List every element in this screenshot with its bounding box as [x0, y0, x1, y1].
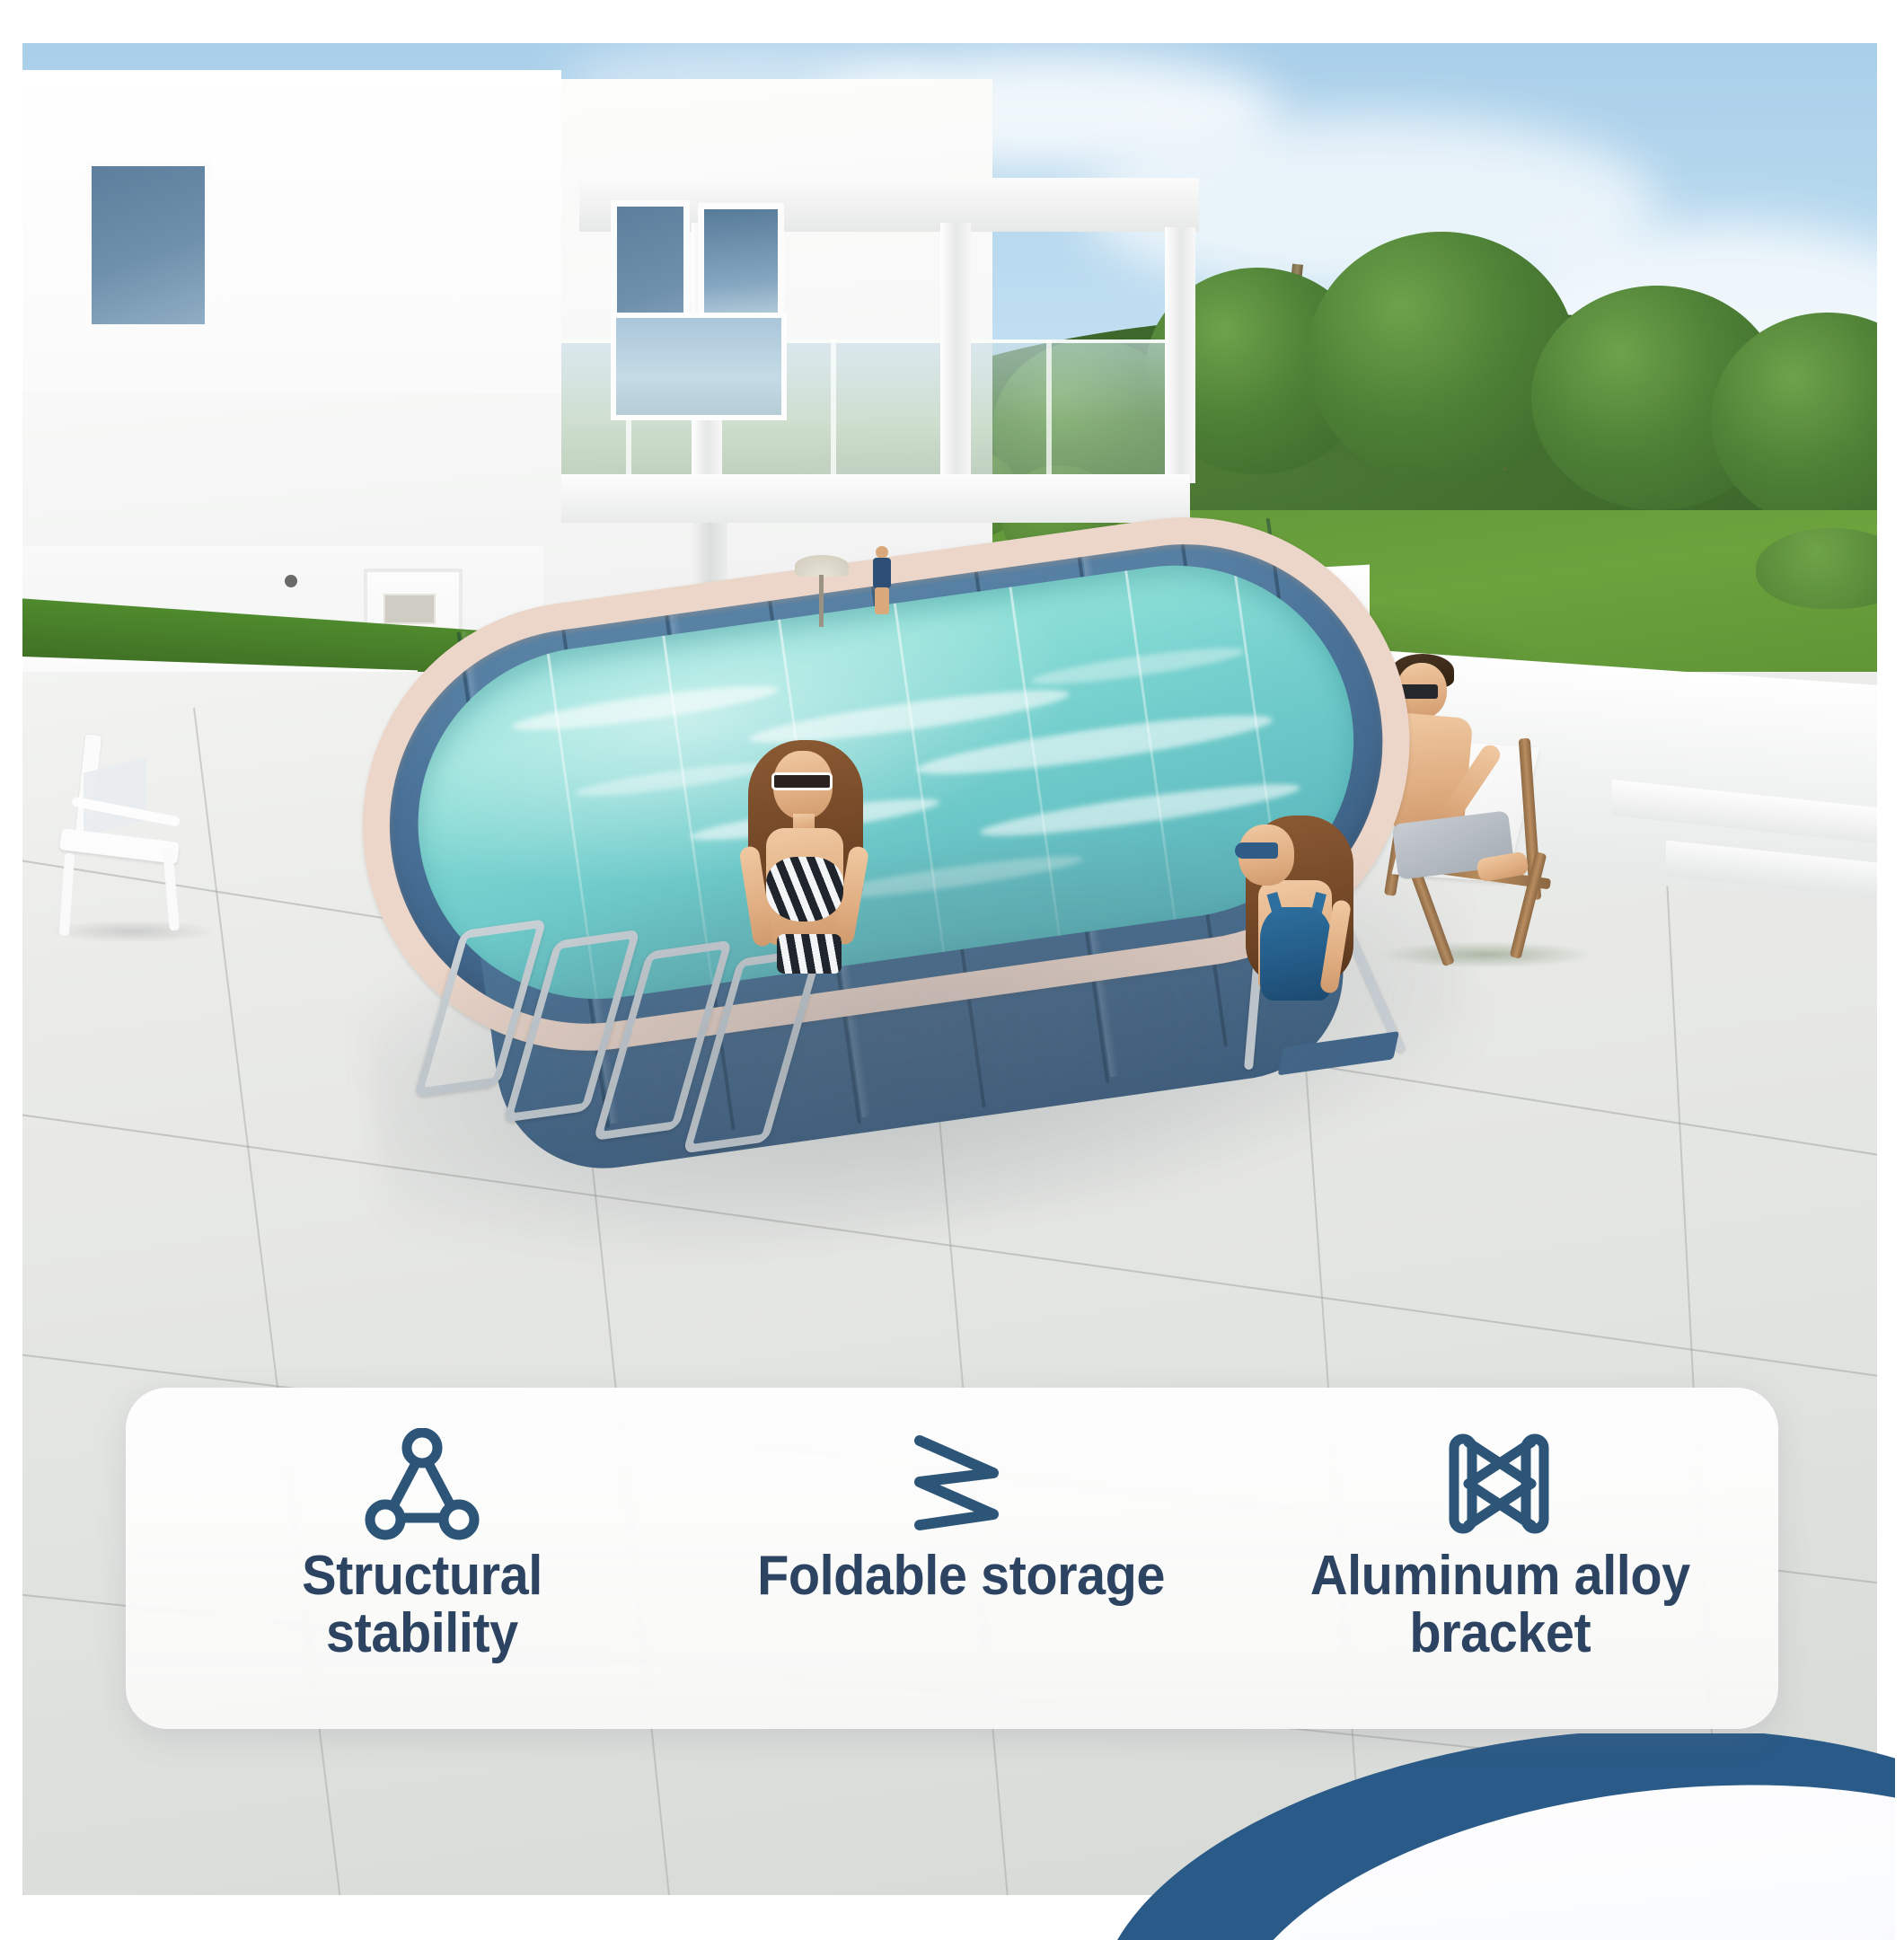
terrace-slab	[561, 474, 1190, 523]
feature-label: Aluminum alloy bracket	[1310, 1548, 1690, 1663]
palm-crown	[1307, 232, 1576, 483]
patio-umbrella	[795, 555, 849, 627]
chair-shadow	[48, 920, 218, 943]
window	[611, 313, 787, 420]
legs	[875, 587, 889, 614]
feature-label: Foldable storage	[757, 1548, 1165, 1605]
umbrella-pole	[819, 575, 824, 627]
terrace-column	[1165, 227, 1195, 483]
sunglasses-icon	[1235, 842, 1278, 859]
torso	[873, 558, 891, 588]
feature-structural-stability[interactable]: Structural stability	[126, 1388, 692, 1663]
head	[876, 546, 888, 559]
railing-post	[1046, 339, 1052, 476]
door-panel	[383, 594, 436, 624]
lounge-chair	[40, 735, 202, 914]
striped-bikini-bottom	[777, 934, 842, 974]
structural-stability-icon	[364, 1427, 480, 1542]
railing-post	[831, 339, 836, 476]
terrace-column	[940, 223, 971, 483]
aluminum-bracket-icon	[1441, 1427, 1558, 1542]
feature-label: Structural stability	[302, 1548, 542, 1663]
person-woman-in-pool	[732, 735, 894, 986]
sunglasses-icon	[771, 772, 833, 790]
striped-bikini-top	[766, 857, 843, 921]
person-woman-poolside	[1226, 807, 1379, 1040]
product-image-canvas: Structural stability Foldable storage	[0, 0, 1904, 1940]
foldable-storage-icon	[907, 1427, 1015, 1542]
distant-figure	[867, 546, 897, 616]
chair-seat	[59, 828, 180, 864]
wall-lamp-icon	[285, 575, 297, 587]
feature-foldable-storage[interactable]: Foldable storage	[692, 1388, 1230, 1605]
feature-aluminum-bracket[interactable]: Aluminum alloy bracket	[1230, 1388, 1778, 1663]
window	[85, 160, 211, 331]
umbrella-canopy	[795, 555, 849, 577]
feature-highlight-card: Structural stability Foldable storage	[126, 1388, 1778, 1729]
